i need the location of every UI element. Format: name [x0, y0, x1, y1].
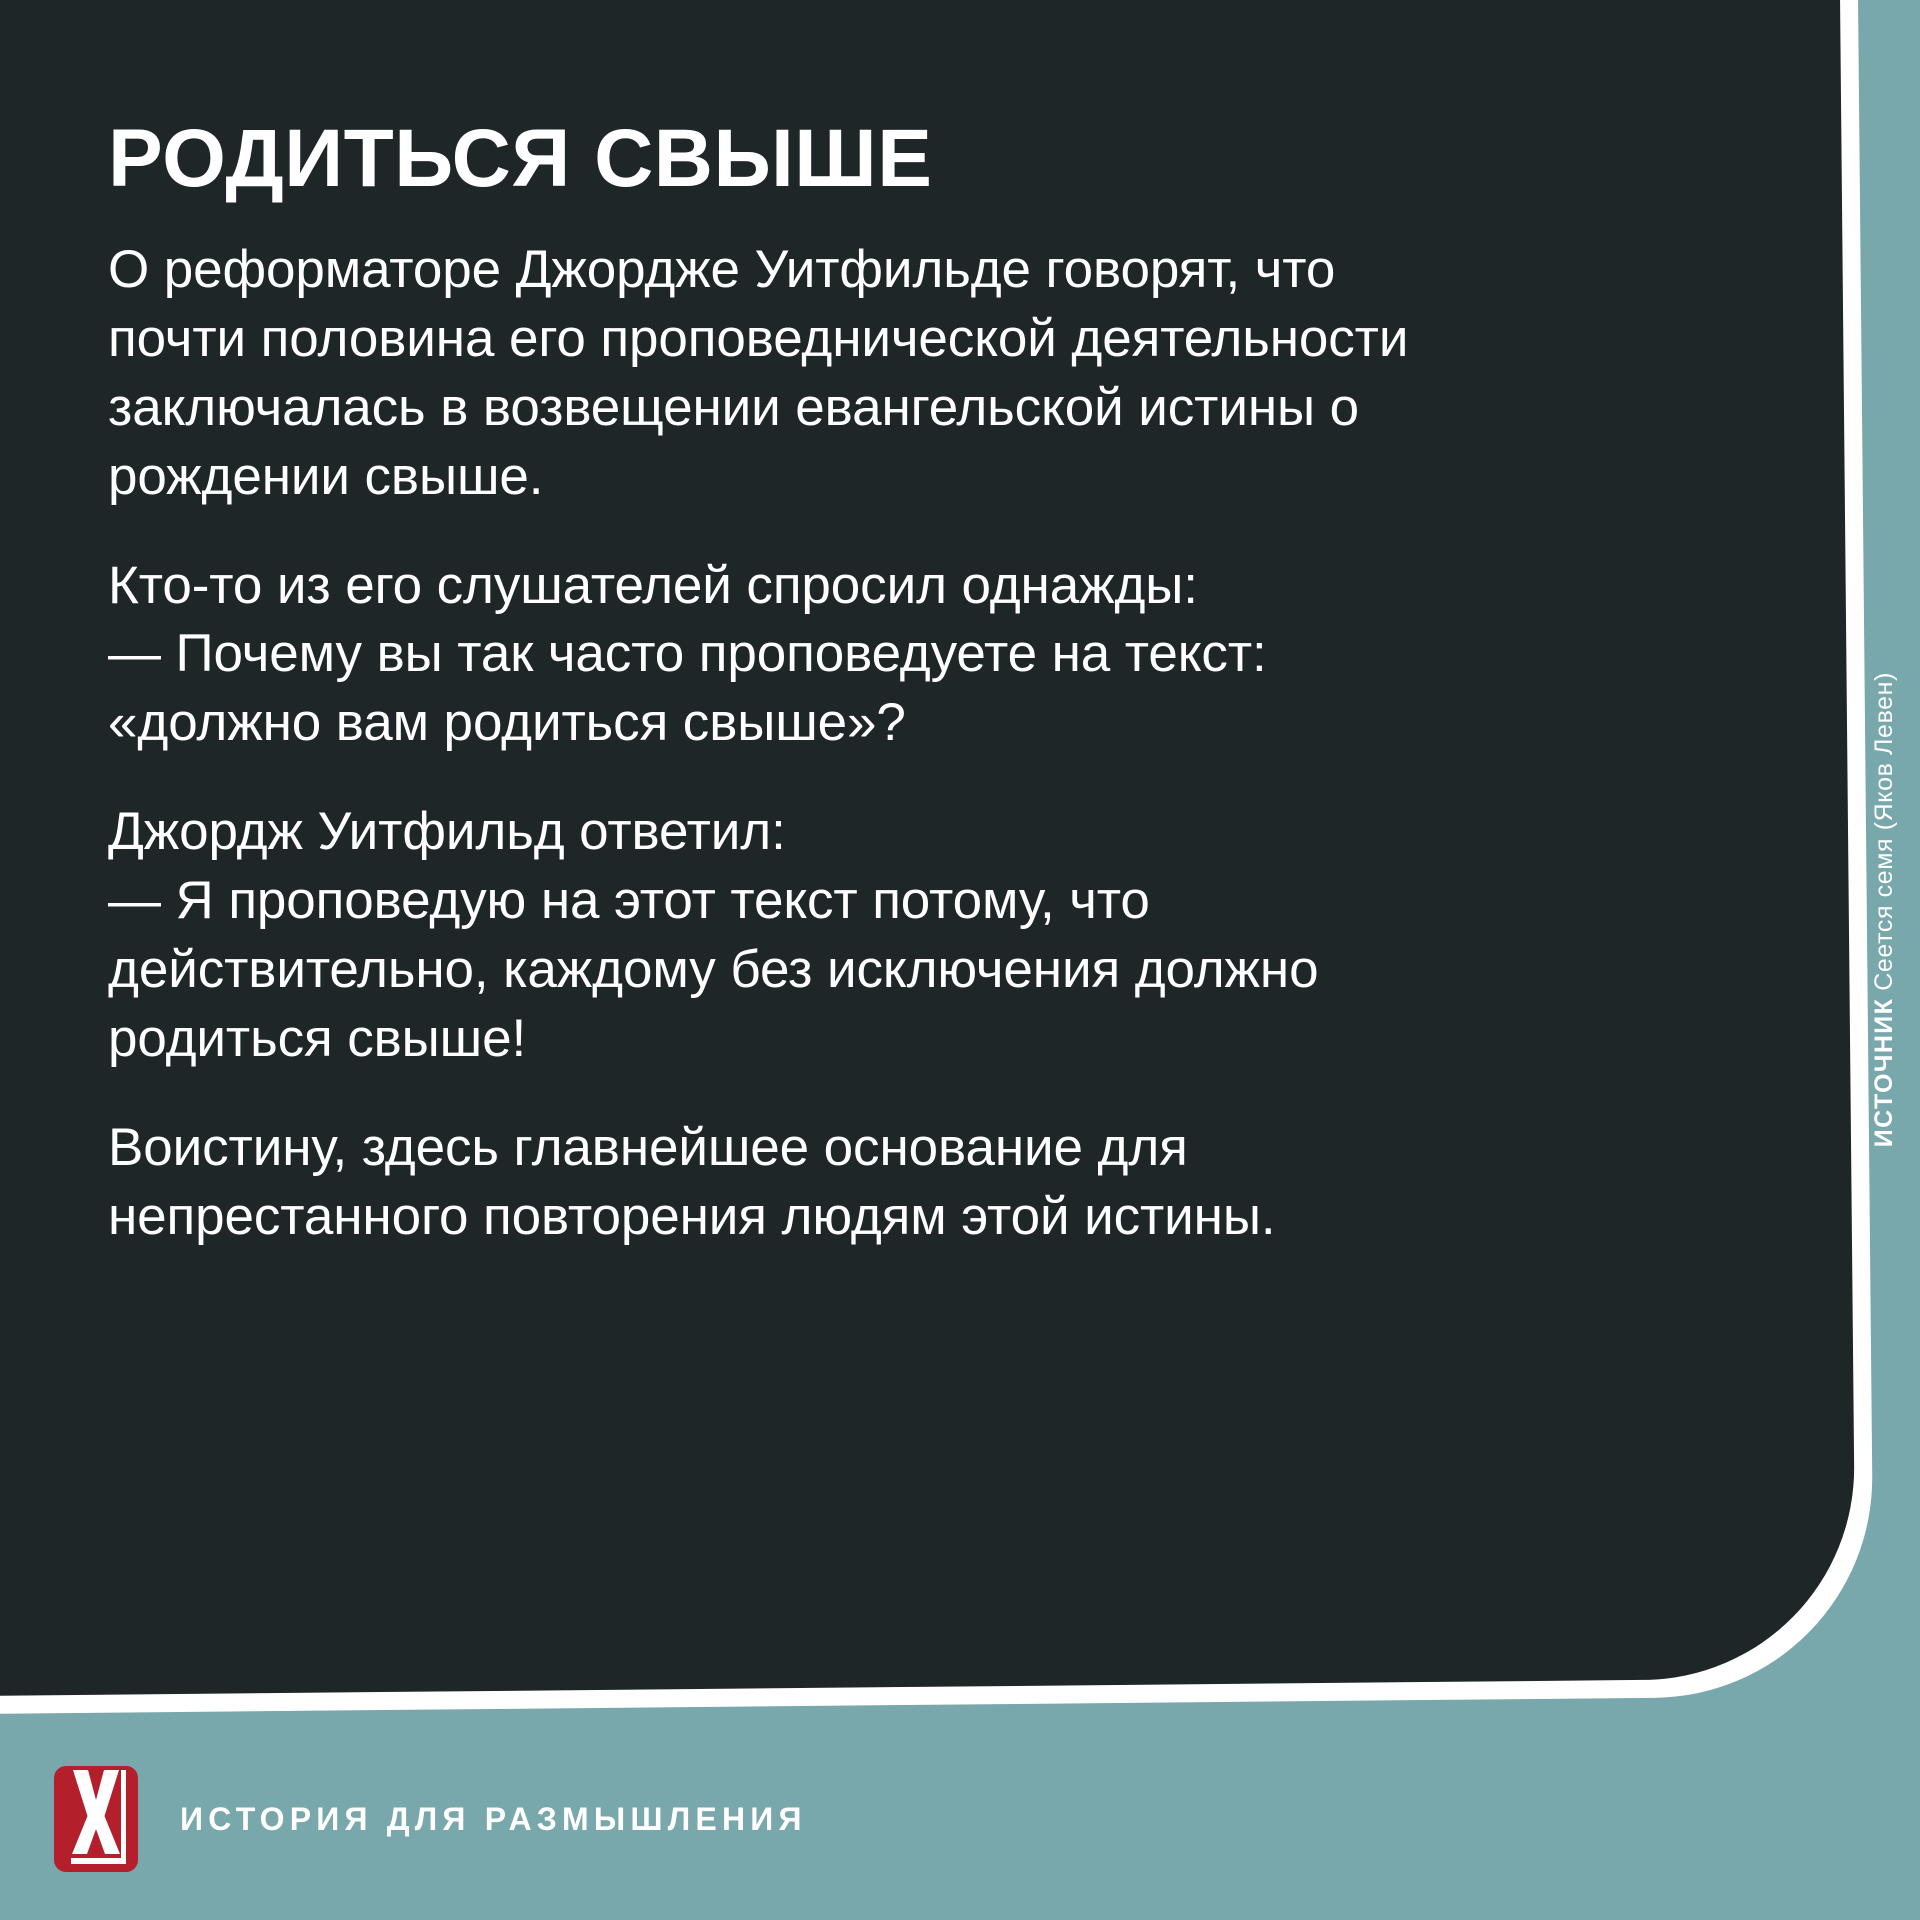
story-paragraph: О реформаторе Джордже Уитфильде говорят,… — [108, 236, 1438, 512]
story-paragraph: Джордж Уитфильд ответил:— Я проповедую н… — [108, 798, 1438, 1074]
source-value: Сеется семя (Яков Левен) — [1870, 672, 1898, 991]
source-label: ИСТОЧНИК — [1870, 998, 1898, 1148]
footer-bar: ИСТОРИЯ ДЛЯ РАЗМЫШЛЕНИЯ — [54, 1766, 807, 1872]
source-credit-text: ИСТОЧНИК Сеется семя (Яков Левен) — [1872, 672, 1897, 1147]
story-paragraph: Кто-то из его слушателей спросил однажды… — [108, 552, 1438, 759]
footer-category-label: ИСТОРИЯ ДЛЯ РАЗМЫШЛЕНИЯ — [180, 1801, 807, 1838]
story-paragraph: Воистину, здесь главнейшее основание для… — [108, 1114, 1438, 1252]
brand-logo-icon — [54, 1766, 138, 1872]
story-card-page: РОДИТЬСЯ СВЫШЕ О реформаторе Джордже Уит… — [0, 0, 1920, 1920]
card-content: РОДИТЬСЯ СВЫШЕ О реформаторе Джордже Уит… — [108, 118, 1438, 1252]
page-title: РОДИТЬСЯ СВЫШЕ — [108, 118, 1438, 200]
source-credit: ИСТОЧНИК Сеется семя (Яков Левен) — [1848, 0, 1920, 1700]
